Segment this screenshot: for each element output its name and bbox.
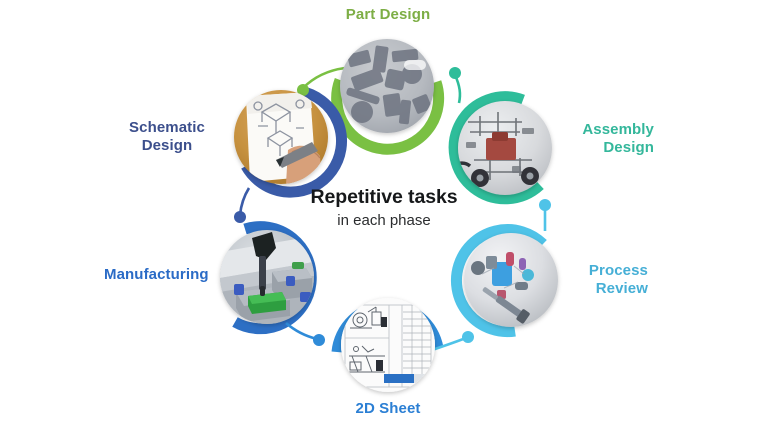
label-2d-sheet[interactable]: 2D Sheet [318, 400, 458, 418]
label-assembly-design[interactable]: Assembly Design [558, 121, 654, 158]
connector-manufacturing-to-schematic [234, 188, 249, 223]
label-process-review[interactable]: Process Review [556, 262, 648, 299]
label-schematic-design[interactable]: Schematic Design [120, 119, 214, 156]
diagram-canvas: Part Design Assembly Design Process Revi… [0, 0, 768, 432]
node-image-2d-sheet [341, 298, 435, 392]
node-image-part-design [340, 39, 434, 133]
center-title: Repetitive tasks [284, 186, 484, 209]
center-message: Repetitive tasks in each phase [284, 186, 484, 229]
label-part-design[interactable]: Part Design [318, 6, 458, 24]
connector-sheet-to-manufacturing [286, 323, 325, 346]
node-image-process-review [464, 233, 558, 327]
connector-part-to-assembly [449, 67, 461, 103]
label-manufacturing[interactable]: Manufacturing [104, 266, 216, 284]
center-subtitle: in each phase [284, 212, 484, 229]
node-image-schematic-design [234, 90, 328, 184]
connector-assembly-to-process [539, 199, 551, 231]
